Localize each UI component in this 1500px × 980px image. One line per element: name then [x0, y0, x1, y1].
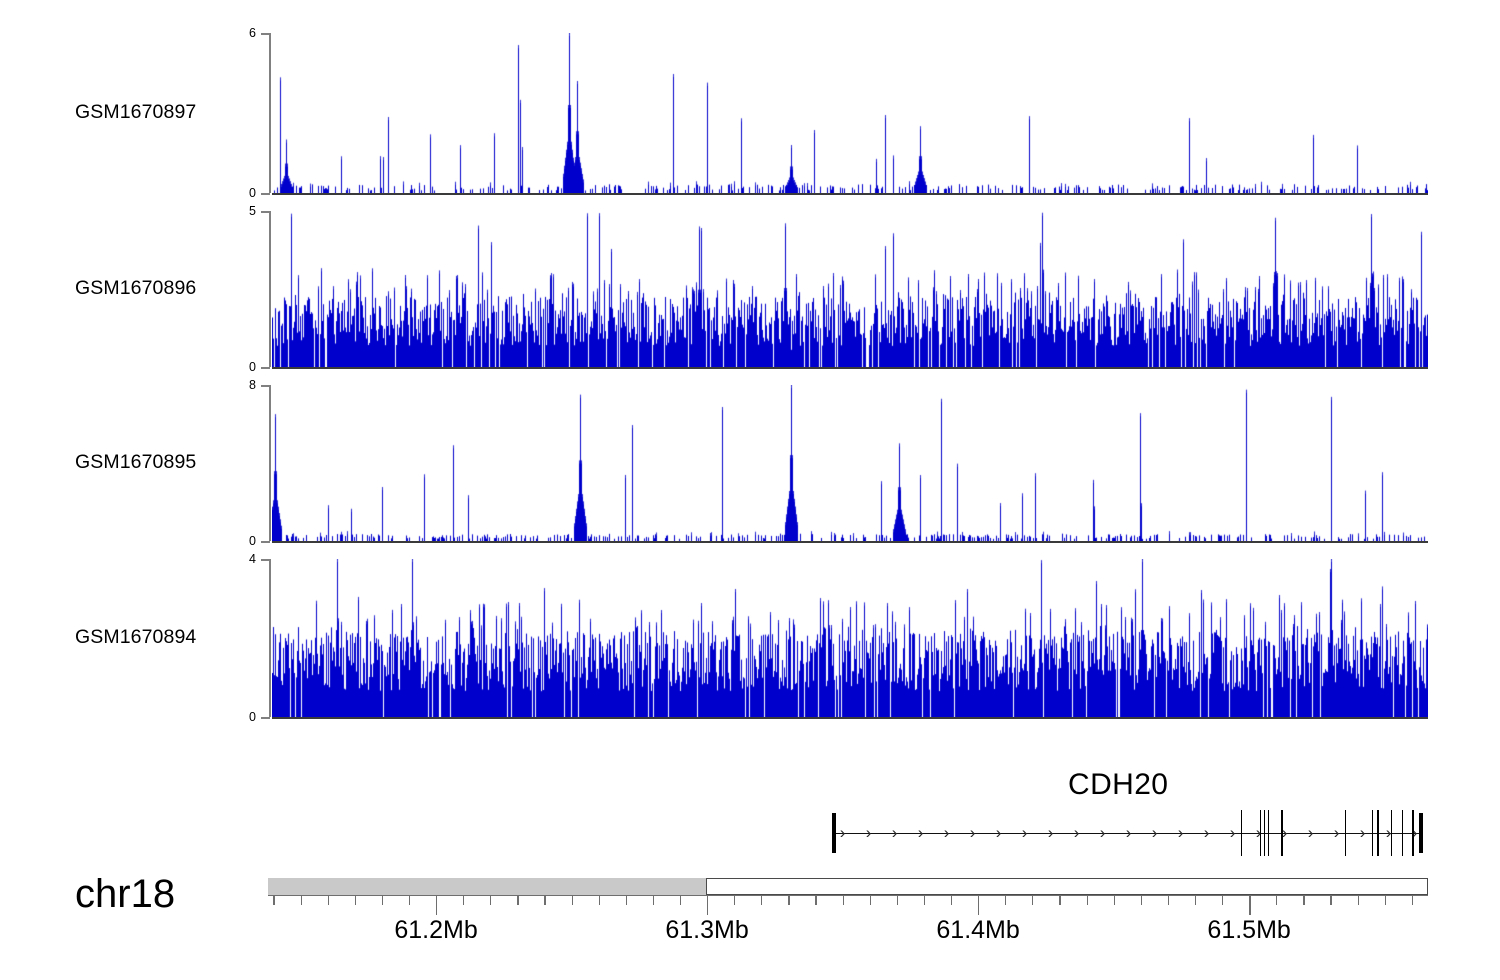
- axis-minor-tick: [843, 896, 844, 905]
- y-axis-line: [269, 559, 271, 717]
- axis-rule: [268, 895, 1428, 896]
- gene-exon: [1268, 810, 1270, 856]
- track-label-gsm1670897: GSM1670897: [75, 101, 196, 124]
- gene-exon: [1419, 813, 1423, 853]
- strand-arrow-icon: ›: [1334, 824, 1340, 841]
- axis-major-tick: [1249, 896, 1250, 915]
- y-axis-tick-min: [261, 367, 270, 369]
- gene-exon: [832, 813, 836, 853]
- axis-minor-tick: [273, 896, 274, 905]
- axis-tick-label: 61.2Mb: [394, 916, 477, 945]
- strand-arrow-icon: ›: [1074, 824, 1080, 841]
- track-baseline: [272, 717, 1428, 719]
- axis-minor-tick: [788, 896, 789, 905]
- axis-minor-tick: [490, 896, 491, 905]
- axis-minor-tick: [1330, 896, 1331, 905]
- track-baseline: [272, 193, 1428, 195]
- axis-minor-tick: [1141, 896, 1142, 905]
- strand-arrow-icon: ›: [1178, 824, 1184, 841]
- gene-exon: [1402, 810, 1404, 856]
- strand-arrow-icon: ›: [840, 824, 846, 841]
- axis-minor-tick: [544, 896, 545, 905]
- axis-minor-tick: [951, 896, 952, 905]
- y-axis-line: [269, 385, 271, 541]
- strand-arrow-icon: ›: [944, 824, 950, 841]
- y-axis-tick-min: [261, 717, 270, 719]
- track-label-gsm1670894: GSM1670894: [75, 626, 196, 649]
- axis-minor-tick: [1168, 896, 1169, 905]
- coverage-plot-area: [272, 559, 1428, 717]
- y-axis-tick-min: [261, 541, 270, 543]
- axis-minor-tick: [1114, 896, 1115, 905]
- axis-tick-label: 61.3Mb: [665, 916, 748, 945]
- track-baseline: [272, 541, 1428, 543]
- axis-minor-tick: [328, 896, 329, 905]
- axis-minor-tick: [409, 896, 410, 905]
- gene-exon: [1391, 810, 1393, 856]
- axis-minor-tick: [1222, 896, 1223, 905]
- axis-minor-tick: [1358, 896, 1359, 905]
- axis-minor-tick: [463, 896, 464, 905]
- strand-arrow-icon: ›: [1100, 824, 1106, 841]
- axis-minor-tick: [924, 896, 925, 905]
- axis-major-tick: [707, 896, 708, 915]
- y-axis-tick-max: [261, 385, 270, 387]
- strand-arrow-icon: ›: [1360, 824, 1366, 841]
- axis-minor-tick: [572, 896, 573, 905]
- axis-minor-tick: [382, 896, 383, 905]
- axis-minor-tick: [1087, 896, 1088, 905]
- axis-minor-tick: [599, 896, 600, 905]
- y-axis-tick-min: [261, 193, 270, 195]
- y-axis-tick-max: [261, 559, 270, 561]
- axis-minor-tick: [1059, 896, 1060, 905]
- gene-exon: [1345, 810, 1347, 856]
- coverage-plot-area: [272, 385, 1428, 541]
- gene-exon: [1241, 810, 1243, 856]
- y-axis-min-label: 0: [234, 361, 256, 374]
- axis-minor-tick: [1303, 896, 1304, 905]
- ideogram-band: [268, 878, 707, 895]
- strand-arrow-icon: ›: [970, 824, 976, 841]
- gene-exon: [1281, 810, 1283, 856]
- axis-minor-tick: [1385, 896, 1386, 905]
- axis-minor-tick: [1195, 896, 1196, 905]
- axis-minor-tick: [680, 896, 681, 905]
- strand-arrow-icon: ›: [1048, 824, 1054, 841]
- gene-name-label: CDH20: [1068, 768, 1168, 802]
- axis-minor-tick: [626, 896, 627, 905]
- axis-minor-tick: [734, 896, 735, 905]
- y-axis-line: [269, 211, 271, 367]
- strand-arrow-icon: ›: [996, 824, 1002, 841]
- strand-arrow-icon: ›: [918, 824, 924, 841]
- axis-minor-tick: [1032, 896, 1033, 905]
- axis-minor-tick: [355, 896, 356, 905]
- gene-exon: [1377, 810, 1379, 856]
- axis-minor-tick: [1276, 896, 1277, 905]
- y-axis-min-label: 0: [234, 187, 256, 200]
- axis-major-tick: [436, 896, 437, 915]
- axis-minor-tick: [517, 896, 518, 905]
- axis-minor-tick: [301, 896, 302, 905]
- y-axis-max-label: 4: [234, 553, 256, 566]
- strand-arrow-icon: ›: [866, 824, 872, 841]
- strand-arrow-icon: ›: [1230, 824, 1236, 841]
- chromosome-label: chr18: [75, 872, 175, 917]
- gene-exon: [1260, 810, 1262, 856]
- strand-arrow-icon: ›: [1204, 824, 1210, 841]
- gene-exon: [1372, 810, 1374, 856]
- axis-tick-label: 61.4Mb: [936, 916, 1019, 945]
- axis-minor-tick: [815, 896, 816, 905]
- y-axis-min-label: 0: [234, 535, 256, 548]
- gene-exon: [1264, 810, 1266, 856]
- coverage-plot-area: [272, 33, 1428, 193]
- y-axis-line: [269, 33, 271, 193]
- y-axis-max-label: 5: [234, 205, 256, 218]
- strand-arrow-icon: ›: [1126, 824, 1132, 841]
- axis-minor-tick: [897, 896, 898, 905]
- strand-arrow-icon: ›: [1308, 824, 1314, 841]
- axis-tick-label: 61.5Mb: [1207, 916, 1290, 945]
- axis-minor-tick: [1005, 896, 1006, 905]
- gene-exon: [1412, 810, 1414, 856]
- y-axis-max-label: 6: [234, 27, 256, 40]
- axis-minor-tick: [761, 896, 762, 905]
- axis-minor-tick: [870, 896, 871, 905]
- y-axis-max-label: 8: [234, 379, 256, 392]
- coverage-plot-area: [272, 211, 1428, 367]
- track-baseline: [272, 367, 1428, 369]
- axis-minor-tick: [1412, 896, 1413, 905]
- track-label-gsm1670896: GSM1670896: [75, 277, 196, 300]
- axis-major-tick: [978, 896, 979, 915]
- strand-arrow-icon: ›: [1152, 824, 1158, 841]
- y-axis-tick-max: [261, 211, 270, 213]
- y-axis-min-label: 0: [234, 711, 256, 724]
- strand-arrow-icon: ›: [892, 824, 898, 841]
- track-label-gsm1670895: GSM1670895: [75, 451, 196, 474]
- y-axis-tick-max: [261, 33, 270, 35]
- axis-minor-tick: [653, 896, 654, 905]
- strand-arrow-icon: ›: [1022, 824, 1028, 841]
